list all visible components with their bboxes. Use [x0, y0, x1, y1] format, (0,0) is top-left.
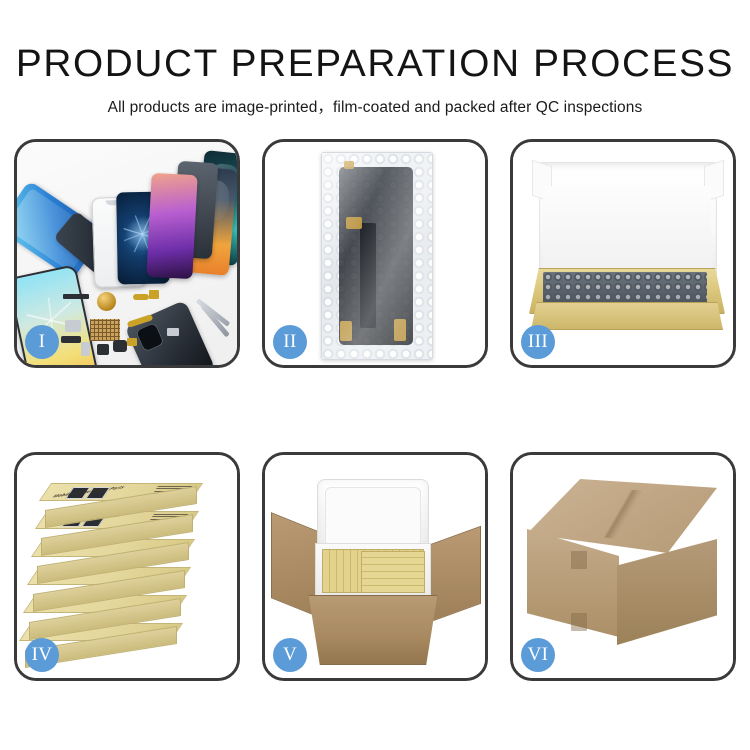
part-speaker-icon: [97, 292, 116, 311]
carton-tab-upper-icon: [571, 551, 587, 569]
page-title: PRODUCT PREPARATION PROCESS: [0, 42, 750, 86]
phone-purple-icon: [146, 173, 197, 279]
product-preparation-process-infographic: PRODUCT PREPARATION PROCESS All products…: [0, 0, 750, 750]
packed-kraft-boxes-secondary-icon: [361, 551, 425, 593]
box-label-text-1: Mobile Phone Spare Parts: [51, 485, 128, 499]
stacked-box-1-labeled: Mobile Phone Spare Parts: [45, 483, 195, 513]
part-button-icon: [113, 340, 127, 352]
carton-right-face-icon: [617, 539, 717, 645]
bubble-wrap-bag-icon: [321, 152, 433, 360]
step-badge-6: VI: [521, 638, 555, 672]
tape-gold-bottom-right-icon: [394, 319, 406, 341]
foam-lid-open-icon: [317, 479, 429, 553]
part-metal-clip-icon: [167, 328, 179, 336]
tape-gold-bottom-left-icon: [340, 321, 352, 341]
step-badge-1: I: [25, 325, 59, 359]
step-badge-2: II: [273, 325, 307, 359]
tape-gold-mid-icon: [346, 217, 362, 229]
carton-body-icon: [303, 595, 443, 665]
process-steps-grid: I II: [14, 139, 736, 681]
step-panel-2: II: [262, 139, 488, 368]
part-sim-tray-icon: [81, 342, 90, 356]
step-badge-5: V: [273, 638, 307, 672]
part-bracket-icon: [65, 320, 81, 332]
kraft-box-front-face-icon: [531, 302, 723, 330]
page-subtitle: All products are image-printed，film-coat…: [0, 95, 750, 117]
carton-tab-lower-icon: [571, 613, 587, 631]
tape-gold-top-icon: [344, 161, 354, 169]
step-panel-5: V: [262, 452, 488, 681]
step-panel-1: I: [14, 139, 240, 368]
part-flex-gold-icon: [133, 294, 149, 300]
step-panel-4: Mobile Phone Spare Parts: [14, 452, 240, 681]
screen-flex-cable-icon: [360, 223, 376, 328]
header: PRODUCT PREPARATION PROCESS All products…: [0, 0, 750, 117]
part-gold-clip-icon: [127, 338, 137, 346]
step-badge-4: IV: [25, 638, 59, 672]
step-panel-3: III: [510, 139, 736, 368]
white-foam-sheet-icon: [543, 186, 711, 272]
part-gold-square-icon: [149, 290, 159, 299]
step-panel-6: VI: [510, 452, 736, 681]
part-flex-dark-icon: [61, 336, 81, 343]
part-chip-icon: [63, 294, 89, 299]
step-badge-3: III: [521, 325, 555, 359]
part-connector-grid-icon: [90, 319, 120, 341]
part-camera-icon: [97, 344, 109, 355]
bubble-wrapped-contents-icon: [543, 272, 707, 306]
